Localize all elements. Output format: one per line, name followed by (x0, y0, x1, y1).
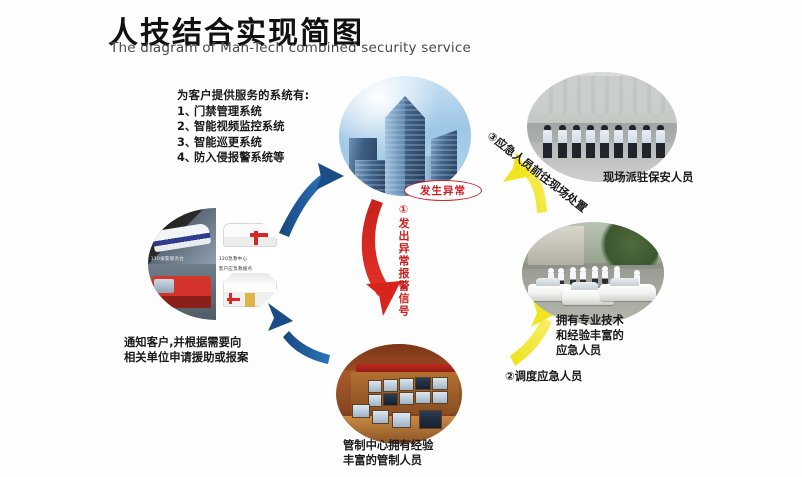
arrow-blue-up-right (279, 163, 344, 237)
cars-building-backdrop (528, 226, 585, 265)
diagram-canvas: 人技结合实现简图 The diagram of Man-Tech combine… (0, 0, 802, 477)
list-item-label: 门禁管理系统 (194, 105, 262, 118)
list-item: 3、智能巡更系统 (177, 135, 309, 151)
status-badge-abnormal: 发生异常 (404, 180, 482, 201)
guards-building-backdrop (539, 76, 665, 113)
caption-notify-client-line1: 通知客户,并根据需要向 (124, 335, 248, 350)
caption-notify-client: 通知客户,并根据需要向 相关单位申请援助或报案 (124, 335, 248, 365)
list-item-number: 3、 (177, 135, 194, 151)
caption-control-center-line2: 丰富的管制人员 (343, 453, 433, 468)
systems-list: 为客户提供服务的系统有: 1、门禁管理系统 2、智能视频监控系统 3、智能巡更系… (177, 88, 309, 166)
tile-fire-truck (148, 264, 216, 320)
tile-ambulance-label: 120急救中心 (219, 256, 248, 262)
caption-notify-client-line2: 相关单位申请援助或报案 (124, 350, 248, 365)
step-label-2: ②调度应急人员 (505, 368, 582, 384)
tile-tent-label: 客户应急救援点 (219, 266, 253, 272)
fire-truck-shape (152, 276, 210, 307)
list-item-label: 防入侵报警系统等 (194, 151, 284, 164)
caption-control-center-line1: 管制中心拥有经验 (343, 438, 433, 453)
list-item-number: 4、 (177, 150, 194, 166)
node-control-room-photo (336, 344, 462, 444)
node-patrol-cars-photo (522, 222, 664, 324)
tile-ambulance: 120急救中心 (216, 208, 284, 264)
list-item: 1、门禁管理系统 (177, 104, 309, 120)
relief-tent-shape (223, 281, 277, 307)
systems-list-heading: 为客户提供服务的系统有: (177, 88, 309, 104)
list-item: 2、智能视频监控系统 (177, 119, 309, 135)
list-item-label: 智能视频监控系统 (194, 120, 284, 133)
caption-control-center: 管制中心拥有经验 丰富的管制人员 (343, 438, 433, 468)
node-emergency-services-photo: 110报警服务台 120急救中心 客户应急救援点 (148, 208, 284, 320)
police-car-shape (152, 223, 212, 253)
page-subtitle: The diagram of Man-Tech combined securit… (110, 40, 471, 56)
tile-police-label: 110报警服务台 (151, 256, 184, 262)
systems-list-items: 1、门禁管理系统 2、智能视频监控系统 3、智能巡更系统 4、防入侵报警系统等 (177, 104, 309, 166)
caption-emergency-staff-line2: 和经验丰富的 (556, 328, 624, 343)
cars-tree (593, 224, 658, 265)
building-shape-main-lit (385, 96, 405, 196)
tile-relief-tent: 客户应急救援点 (216, 264, 284, 320)
caption-emergency-staff: 拥有专业技术 和经验丰富的 应急人员 (556, 313, 624, 358)
ambulance-shape (223, 223, 277, 248)
building-shape-left-low (355, 160, 389, 196)
tile-police-car: 110报警服务台 (148, 208, 216, 264)
list-item-number: 2、 (177, 119, 194, 135)
list-item-label: 智能巡更系统 (194, 136, 262, 149)
caption-emergency-staff-line1: 拥有专业技术 (556, 313, 624, 328)
step-label-1: ①发出异常报警信号 (396, 203, 411, 318)
caption-emergency-staff-line3: 应急人员 (556, 343, 624, 358)
node-building-photo (339, 76, 471, 196)
caption-guards: 现场派驻保安人员 (603, 170, 693, 185)
list-item-number: 1、 (177, 104, 194, 120)
node-guards-photo (527, 72, 677, 182)
list-item: 4、防入侵报警系统等 (177, 150, 309, 166)
